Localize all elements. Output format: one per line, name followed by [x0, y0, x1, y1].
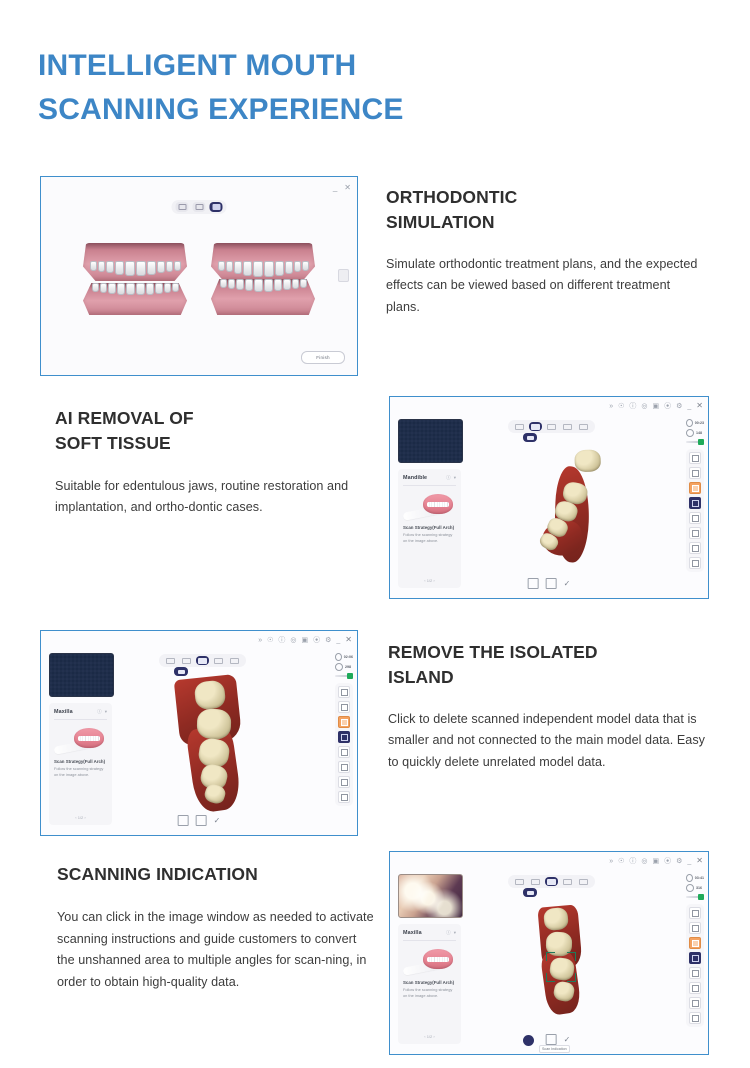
fill-icon-button[interactable] — [689, 952, 701, 964]
window-controls[interactable]: _ ✕ — [333, 184, 351, 192]
tooth — [253, 261, 263, 277]
lower-teeth — [89, 283, 181, 295]
marketing-page: INTELLIGENT MOUTH SCANNING EXPERIENCE _ … — [0, 0, 750, 1068]
tooth — [146, 283, 154, 295]
info-icon[interactable]: ⓘ — [446, 475, 451, 481]
help-icon[interactable]: ◎ — [290, 637, 296, 644]
lower-tool-button[interactable] — [196, 656, 209, 665]
occlusion-icon — [563, 879, 572, 885]
brush-icon-button[interactable] — [338, 716, 350, 728]
fill-icon — [341, 734, 348, 741]
zoom-fit-icon — [692, 910, 699, 917]
tooth — [245, 279, 253, 291]
zoom-fit-icon-button[interactable] — [338, 686, 350, 698]
arch-tool-button[interactable] — [513, 422, 526, 431]
upper-model-icon-button[interactable] — [178, 815, 189, 826]
jaw-card: Maxilla ⓘ ▾ Scan Strategy(Full Arch) Fol… — [49, 703, 112, 825]
arch-icon — [166, 658, 175, 664]
jaw-shape — [423, 494, 453, 514]
gear-icon[interactable]: ⚙ — [676, 403, 682, 410]
occlusion-tool-button[interactable] — [561, 877, 574, 886]
scanner-app-window: » ☉ ⓘ ◎ ▣ ⦿ ⚙ _ ✕ Maxilla ⓘ ▾ — [41, 631, 357, 835]
arch-after — [211, 239, 315, 319]
close-icon[interactable]: ✕ — [344, 184, 351, 192]
undo-icon-button[interactable] — [338, 791, 350, 803]
tooth — [157, 261, 165, 273]
jaw-card-icons[interactable]: ⓘ ▾ — [97, 709, 107, 715]
page-title-line1: INTELLIGENT MOUTH — [38, 49, 356, 82]
globe-icon[interactable]: ☉ — [618, 403, 624, 410]
lower-model-icon-button[interactable] — [546, 578, 557, 589]
screenshot-panel-isolated-island: » ☉ ⓘ ◎ ▣ ⦿ ⚙ _ ✕ Maxilla ⓘ ▾ — [40, 630, 358, 836]
list-tool-button[interactable] — [577, 877, 590, 886]
brush-icon — [692, 940, 699, 947]
caption-body: Follow the scanning strategy on the imag… — [403, 987, 456, 998]
select-icon-button[interactable] — [338, 701, 350, 713]
list-tool-button[interactable] — [577, 422, 590, 431]
lower-tool-button[interactable] — [545, 422, 558, 431]
measure-icon-button[interactable] — [689, 542, 701, 554]
left-sidebar: Maxilla ⓘ ▾ Scan Strategy(Full Arch) Fol… — [398, 874, 461, 1048]
headline-line1: SCANNING INDICATION — [57, 862, 375, 887]
scan-preview-window[interactable] — [49, 653, 114, 697]
scanner-app-window: » ☉ ⓘ ◎ ▣ ⦿ ⚙ _ ✕ Mandible ⓘ ▾ — [390, 397, 708, 598]
headline-line2: SIMULATION — [386, 210, 706, 235]
tooth — [275, 261, 284, 276]
fill-icon-button[interactable] — [338, 731, 350, 743]
info-icon[interactable]: ⓘ — [629, 858, 636, 865]
info-icon[interactable]: ⓘ — [97, 709, 102, 715]
tooth — [172, 283, 179, 292]
frame-icon — [195, 204, 203, 210]
card-pager[interactable]: ‹ 1/2 › — [398, 578, 461, 583]
brush-icon-button[interactable] — [689, 937, 701, 949]
minimize-icon[interactable]: _ — [687, 403, 691, 410]
page-title-line2: SCANNING EXPERIENCE — [38, 88, 538, 132]
brush-icon-button[interactable] — [689, 482, 701, 494]
select-icon-button[interactable] — [689, 922, 701, 934]
tooth — [294, 261, 301, 272]
undo-icon-button[interactable] — [689, 1012, 701, 1024]
confirm-check-icon[interactable]: ✓ — [564, 580, 571, 588]
scan-timer-value: 02:06 — [344, 655, 353, 659]
tooth — [136, 261, 146, 276]
undo-icon — [692, 1015, 699, 1022]
jaw-card-header: Maxilla ⓘ ▾ — [403, 930, 456, 941]
caption-title: Scan Strategy(Full Arch) — [54, 759, 107, 764]
cursor-icon — [178, 204, 186, 210]
selection-corner — [546, 952, 555, 961]
bottom-action-bar[interactable]: ✓ — [178, 815, 221, 826]
lower-model-icon-button[interactable] — [196, 815, 207, 826]
lock-icon[interactable] — [338, 269, 349, 282]
model-icon — [212, 204, 220, 210]
scan-count-value: 148 — [696, 431, 702, 435]
tooth — [226, 261, 233, 272]
secondary-tool-button[interactable] — [523, 433, 537, 442]
feature-text-ai-soft-tissue: AI REMOVAL OF SOFT TISSUE Suitable for e… — [55, 406, 365, 519]
undo-icon — [341, 794, 348, 801]
confirm-check-icon[interactable]: ✓ — [214, 817, 221, 825]
left-sidebar: Mandible ⓘ ▾ Scan Strategy(Full Arch) Fo… — [398, 419, 461, 592]
upper-tool-button[interactable] — [529, 422, 542, 431]
tooth — [236, 279, 244, 290]
jaw-card: Mandible ⓘ ▾ Scan Strategy(Full Arch) Fo… — [398, 469, 461, 588]
trim-icon — [341, 764, 348, 771]
screenshot-panel-orthodontic-simulation: _ ✕ — [40, 176, 358, 376]
jaw-card: Maxilla ⓘ ▾ Scan Strategy(Full Arch) Fol… — [398, 924, 461, 1044]
headline-line1: AI REMOVAL OF — [55, 406, 365, 431]
headline-line2: SOFT TISSUE — [55, 431, 365, 456]
chevrons-right-icon[interactable]: » — [609, 858, 613, 865]
window-icon[interactable]: ▣ — [301, 637, 308, 644]
zoom-fit-icon — [692, 455, 699, 462]
tooth — [302, 261, 309, 271]
scan-strategy-illustration — [403, 491, 456, 523]
upper-tool-button[interactable] — [180, 656, 193, 665]
scan-timer-value: 03:41 — [695, 876, 704, 880]
occlusion-tool-button[interactable] — [212, 656, 225, 665]
rail-toolbar[interactable] — [686, 449, 704, 572]
info-icon[interactable]: ⓘ — [629, 403, 636, 410]
frame-tool-button[interactable] — [193, 202, 206, 212]
tooth — [117, 283, 125, 295]
right-rail: 00:23 148 — [686, 419, 704, 572]
finish-button[interactable]: Finish — [301, 351, 345, 364]
clock-icon — [335, 653, 342, 661]
tooth — [106, 261, 114, 273]
fill-icon-button[interactable] — [689, 497, 701, 509]
target-icon[interactable]: ⦿ — [664, 403, 671, 410]
feature-body: Click to delete scanned independent mode… — [388, 709, 710, 774]
arch-icon — [515, 424, 524, 430]
jaw-card-icons[interactable]: ⓘ ▾ — [446, 930, 456, 936]
tooth — [285, 261, 293, 274]
feature-body: Suitable for edentulous jaws, routine re… — [55, 476, 365, 520]
check-circle-icon — [686, 884, 694, 892]
arch-icon — [515, 879, 524, 885]
help-icon[interactable]: ◎ — [641, 403, 647, 410]
tooth — [218, 261, 225, 271]
upper-jaw-icon — [182, 658, 191, 664]
measure-icon — [692, 545, 699, 552]
app-header: » ☉ ⓘ ◎ ▣ ⦿ ⚙ _ ✕ — [41, 631, 357, 649]
card-pager[interactable]: ‹ 1/2 › — [398, 1034, 461, 1039]
mandible-scan-model[interactable] — [534, 441, 622, 568]
caption-title: Scan Strategy(Full Arch) — [403, 525, 456, 530]
feature-headline: SCANNING INDICATION — [57, 862, 375, 887]
left-sidebar: Maxilla ⓘ ▾ Scan Strategy(Full Arch) Fol… — [49, 653, 112, 829]
lower-teeth — [217, 279, 309, 292]
model-icon — [527, 436, 534, 440]
screenshot-panel-scanning-indication: » ☉ ⓘ ◎ ▣ ⦿ ⚙ _ ✕ Maxilla ⓘ ▾ — [389, 851, 709, 1055]
eraser-icon — [692, 970, 699, 977]
lower-jaw-icon — [547, 879, 556, 885]
lower-model-icon-button[interactable] — [546, 1034, 557, 1045]
model-tool-button[interactable] — [210, 202, 223, 212]
upper-tool-button[interactable] — [529, 877, 542, 886]
measure-icon — [341, 779, 348, 786]
scan-timer: 00:23 — [686, 419, 704, 427]
tooth — [164, 283, 171, 293]
info-icon[interactable]: ⓘ — [278, 637, 285, 644]
list-icon — [579, 879, 588, 885]
zoom-fit-icon — [341, 689, 348, 696]
lower-tool-button[interactable] — [545, 877, 558, 886]
scan-timer: 03:41 — [686, 874, 704, 882]
chevron-down-icon[interactable]: ▾ — [454, 930, 456, 936]
screenshot-panel-ai-soft-tissue: » ☉ ⓘ ◎ ▣ ⦿ ⚙ _ ✕ Mandible ⓘ ▾ — [389, 396, 709, 599]
cursor-tool-button[interactable] — [176, 202, 189, 212]
minimize-icon[interactable]: _ — [687, 858, 691, 865]
tooth — [166, 261, 173, 272]
undo-icon-button[interactable] — [689, 557, 701, 569]
tooth — [155, 283, 163, 294]
globe-icon[interactable]: ☉ — [618, 858, 624, 865]
eraser-icon-button[interactable] — [338, 746, 350, 758]
tooth-model — [196, 708, 231, 739]
arch-tool-button[interactable] — [513, 877, 526, 886]
feature-headline: REMOVE THE ISOLATED ISLAND — [388, 640, 710, 690]
right-rail: 03:41 316 — [686, 874, 704, 1027]
jaw-card-icons[interactable]: ⓘ ▾ — [446, 475, 456, 481]
tooth — [125, 261, 135, 276]
card-pager[interactable]: ‹ 1/2 › — [49, 815, 112, 820]
headline-line2: ISLAND — [388, 665, 710, 690]
lower-jaw-icon — [198, 658, 207, 664]
scan-count: 316 — [686, 884, 704, 892]
scan-timer: 02:06 — [335, 653, 353, 661]
scan-strategy-illustration — [54, 725, 107, 757]
select-icon — [341, 704, 348, 711]
selection-overlay — [546, 952, 576, 982]
info-icon[interactable]: ⓘ — [446, 930, 451, 936]
list-icon — [579, 424, 588, 430]
feature-body: You can click in the image window as nee… — [57, 907, 375, 994]
tooth — [243, 261, 252, 276]
select-icon — [692, 925, 699, 932]
select-icon-button[interactable] — [689, 467, 701, 479]
trim-icon-button[interactable] — [338, 761, 350, 773]
secondary-tool-button[interactable] — [523, 888, 537, 897]
tooth — [90, 261, 97, 271]
upper-teeth — [217, 261, 309, 277]
jaw-card-title: Maxilla — [403, 930, 422, 936]
tooth-model — [574, 449, 601, 472]
feature-text-scanning-indication: SCANNING INDICATION You can click in the… — [57, 862, 375, 994]
upper-jaw-icon — [531, 879, 540, 885]
tooth — [264, 279, 273, 292]
gear-icon[interactable]: ⚙ — [325, 637, 331, 644]
tooth — [283, 279, 291, 290]
feature-body: Simulate orthodontic treatment plans, an… — [386, 254, 706, 319]
gear-icon[interactable]: ⚙ — [676, 858, 682, 865]
trim-icon — [692, 985, 699, 992]
occlusion-tool-button[interactable] — [561, 422, 574, 431]
eraser-icon — [692, 515, 699, 522]
tooth — [100, 283, 107, 293]
select-icon — [692, 470, 699, 477]
arch-comparison — [41, 239, 357, 323]
jaw-card-header: Maxilla ⓘ ▾ — [54, 709, 107, 720]
scanner-wand-icon — [335, 673, 353, 679]
trim-icon — [692, 530, 699, 537]
measure-icon-button[interactable] — [689, 997, 701, 1009]
jaw-card-header: Mandible ⓘ ▾ — [403, 475, 456, 486]
headline-line1: ORTHODONTIC — [386, 185, 706, 210]
upper-teeth — [89, 261, 181, 276]
lower-jaw-icon — [547, 424, 556, 430]
simulation-toolbar[interactable] — [172, 200, 227, 214]
close-icon[interactable]: ✕ — [696, 402, 703, 410]
zoom-fit-icon-button[interactable] — [689, 907, 701, 919]
fill-icon — [692, 955, 699, 962]
eraser-icon — [341, 749, 348, 756]
tooth — [108, 283, 116, 294]
upper-model-icon-button[interactable] — [528, 578, 539, 589]
bottom-action-bar[interactable]: ✓ — [528, 578, 571, 589]
selection-corner — [546, 973, 555, 982]
brush-icon — [341, 719, 348, 726]
measure-icon-button[interactable] — [338, 776, 350, 788]
scanner-wand-icon — [686, 439, 704, 445]
tooth — [92, 283, 99, 292]
zoom-fit-icon-button[interactable] — [689, 452, 701, 464]
rail-toolbar[interactable] — [686, 904, 704, 1027]
trim-icon-button[interactable] — [689, 527, 701, 539]
scan-timer-value: 00:23 — [695, 421, 704, 425]
chevron-down-icon[interactable]: ▾ — [454, 475, 456, 481]
tooth — [174, 261, 181, 271]
chevron-down-icon[interactable]: ▾ — [105, 709, 107, 715]
jaw-card-title: Mandible — [403, 475, 427, 481]
jaw-shape — [423, 949, 453, 969]
scan-count-value: 298 — [345, 665, 351, 669]
tooth — [300, 279, 307, 288]
upper-jaw-icon — [531, 424, 540, 430]
clock-icon — [686, 874, 693, 882]
camera-preview-window[interactable] — [398, 874, 463, 918]
brush-icon — [692, 485, 699, 492]
tooth — [136, 283, 145, 295]
target-icon[interactable]: ⦿ — [664, 858, 671, 865]
app-header: » ☉ ⓘ ◎ ▣ ⦿ ⚙ _ ✕ — [390, 852, 708, 870]
scanner-app-window: » ☉ ⓘ ◎ ▣ ⦿ ⚙ _ ✕ Maxilla ⓘ ▾ — [390, 852, 708, 1054]
model-icon — [527, 891, 534, 895]
scan-indication-tooltip: Scan Indication — [539, 1045, 570, 1053]
tooth — [264, 261, 274, 277]
window-icon[interactable]: ▣ — [652, 858, 659, 865]
tooth — [292, 279, 299, 289]
tooth — [234, 261, 242, 274]
clock-icon — [686, 419, 693, 427]
eraser-icon-button[interactable] — [689, 512, 701, 524]
occlusion-icon — [563, 424, 572, 430]
page-title: INTELLIGENT MOUTH SCANNING EXPERIENCE — [38, 44, 538, 133]
tooth — [254, 279, 263, 292]
selection-corner — [567, 973, 576, 982]
tooth — [274, 279, 282, 291]
list-icon — [230, 658, 239, 664]
tooth — [126, 283, 135, 295]
scan-strategy-illustration — [403, 946, 456, 978]
arch-tool-button[interactable] — [164, 656, 177, 665]
globe-icon[interactable]: ☉ — [267, 637, 273, 644]
scanner-wand-icon — [686, 894, 704, 900]
scan-count: 148 — [686, 429, 704, 437]
close-icon[interactable]: ✕ — [696, 857, 703, 865]
check-circle-icon — [335, 663, 343, 671]
scan-count-value: 316 — [696, 886, 702, 890]
maxilla-scan-model[interactable] — [169, 673, 279, 813]
caption-body: Follow the scanning strategy on the imag… — [403, 532, 456, 543]
confirm-check-icon[interactable]: ✓ — [564, 1036, 571, 1044]
bottom-action-bar[interactable]: ✓ — [528, 1034, 571, 1045]
top-toolbar[interactable] — [508, 420, 595, 433]
close-icon[interactable]: ✕ — [345, 636, 352, 644]
eraser-icon-button[interactable] — [689, 967, 701, 979]
tooth — [115, 261, 124, 275]
tooth — [147, 261, 156, 275]
scan-count: 298 — [335, 663, 353, 671]
check-circle-icon — [686, 429, 694, 437]
list-tool-button[interactable] — [228, 656, 241, 665]
chevrons-right-icon[interactable]: » — [258, 637, 262, 644]
selection-corner — [567, 952, 576, 961]
minimize-icon[interactable]: _ — [336, 637, 340, 644]
right-rail: 02:06 298 — [335, 653, 353, 806]
tooth — [98, 261, 105, 272]
occlusion-icon — [214, 658, 223, 664]
top-toolbar[interactable] — [508, 875, 595, 888]
chevrons-right-icon[interactable]: » — [609, 403, 613, 410]
target-icon[interactable]: ⦿ — [313, 637, 320, 644]
window-icon[interactable]: ▣ — [652, 403, 659, 410]
minimize-icon[interactable]: _ — [333, 184, 337, 192]
scan-preview-window[interactable] — [398, 419, 463, 463]
measure-icon — [692, 1000, 699, 1007]
arch-before — [83, 239, 187, 319]
fill-icon — [692, 500, 699, 507]
feature-text-orthodontic-simulation: ORTHODONTIC SIMULATION Simulate orthodon… — [386, 185, 706, 319]
tooth — [228, 279, 235, 289]
rail-toolbar[interactable] — [335, 683, 353, 806]
top-toolbar[interactable] — [159, 654, 246, 667]
caption-body: Follow the scanning strategy on the imag… — [54, 766, 107, 777]
undo-icon — [692, 560, 699, 567]
jaw-shape — [74, 728, 104, 748]
help-icon[interactable]: ◎ — [641, 858, 647, 865]
feature-text-isolated-island: REMOVE THE ISOLATED ISLAND Click to dele… — [388, 640, 710, 774]
headline-line1: REMOVE THE ISOLATED — [388, 640, 710, 665]
caption-title: Scan Strategy(Full Arch) — [403, 980, 456, 985]
maxilla-partial-scan-model[interactable] — [530, 900, 602, 1020]
feature-headline: ORTHODONTIC SIMULATION — [386, 185, 706, 235]
tooth — [220, 279, 227, 288]
simulation-app-window: _ ✕ — [41, 177, 357, 375]
trim-icon-button[interactable] — [689, 982, 701, 994]
feature-headline: AI REMOVAL OF SOFT TISSUE — [55, 406, 365, 456]
jaw-card-title: Maxilla — [54, 709, 73, 715]
app-header: » ☉ ⓘ ◎ ▣ ⦿ ⚙ _ ✕ — [390, 397, 708, 415]
